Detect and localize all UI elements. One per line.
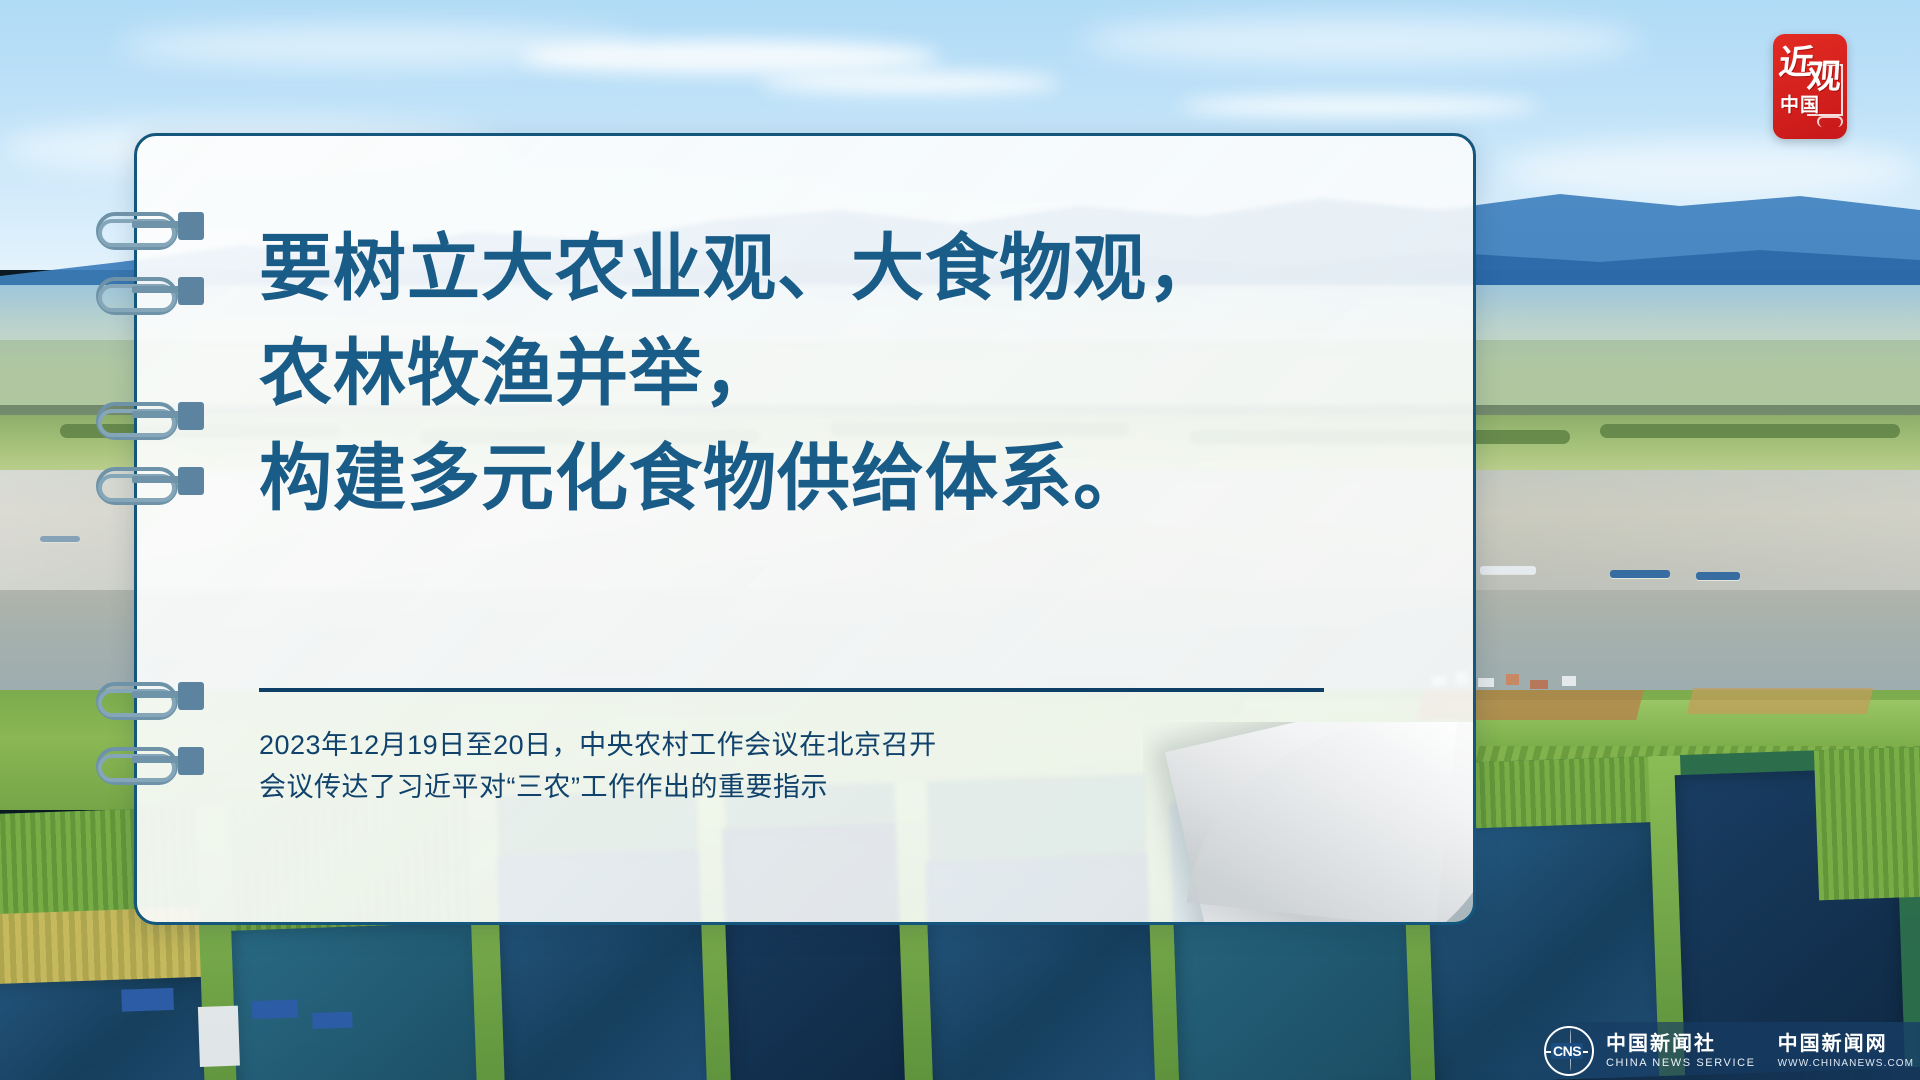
watermark-brand-1: 中国新闻社 CHINA NEWS SERVICE — [1606, 1032, 1756, 1071]
cloud-wisp — [1080, 18, 1640, 64]
cns-abbr: CNS — [1551, 1043, 1583, 1059]
cloud-wisp — [760, 72, 1060, 94]
village-roof — [1562, 676, 1576, 686]
jinguan-zhongguo-logo[interactable]: 近 观 中国 — [1773, 34, 1847, 139]
watermark: CNS 中国新闻社 CHINA NEWS SERVICE 中国新闻网 WWW.C… — [1530, 1022, 1920, 1080]
treeline — [1600, 424, 1900, 438]
village-roof — [1530, 680, 1548, 689]
watermark-cn-name-2: 中国新闻网 — [1778, 1032, 1914, 1056]
watermark-en-name-2: WWW.CHINANEWS.COM — [1778, 1056, 1914, 1071]
headline-line-2: 农林牧渔并举， — [259, 321, 1419, 426]
divider-rule — [259, 688, 1324, 692]
headline-block: 要树立大农业观、大食物观， 农林牧渔并举， 构建多元化食物供给体系。 — [259, 216, 1419, 531]
cloud-wisp — [120, 26, 640, 66]
village-roof — [1506, 674, 1519, 685]
cargo-boat — [1610, 570, 1670, 578]
headline-line-3: 构建多元化食物供给体系。 — [259, 426, 1419, 531]
watermark-brand-2: 中国新闻网 WWW.CHINANEWS.COM — [1778, 1032, 1914, 1071]
page-curl — [1143, 722, 1473, 922]
logo-char-guan: 观 — [1806, 60, 1842, 94]
quote-card: 要树立大农业观、大食物观， 农林牧渔并举， 构建多元化食物供给体系。 2023年… — [134, 133, 1476, 925]
watermark-en-name-1: CHINA NEWS SERVICE — [1606, 1056, 1756, 1071]
cargo-boat — [1696, 572, 1740, 580]
cns-logo-text: CNS — [1544, 1040, 1590, 1062]
logo-swirl-icon — [1817, 116, 1843, 127]
field-strip — [1687, 688, 1873, 714]
cargo-boat — [1480, 566, 1536, 574]
cloud-wisp — [1180, 96, 1540, 116]
logo-char-zhongguo: 中国 — [1780, 96, 1820, 115]
cargo-boat — [40, 536, 80, 542]
headline-line-1: 要树立大农业观、大食物观， — [259, 216, 1419, 321]
poster-canvas: 近 观 中国 要树立大农业观、大食物观， 农林牧渔并举， 构建多元化食物供给体系… — [0, 0, 1920, 1080]
village-roof — [1478, 678, 1494, 687]
watermark-cn-name-1: 中国新闻社 — [1606, 1032, 1756, 1056]
